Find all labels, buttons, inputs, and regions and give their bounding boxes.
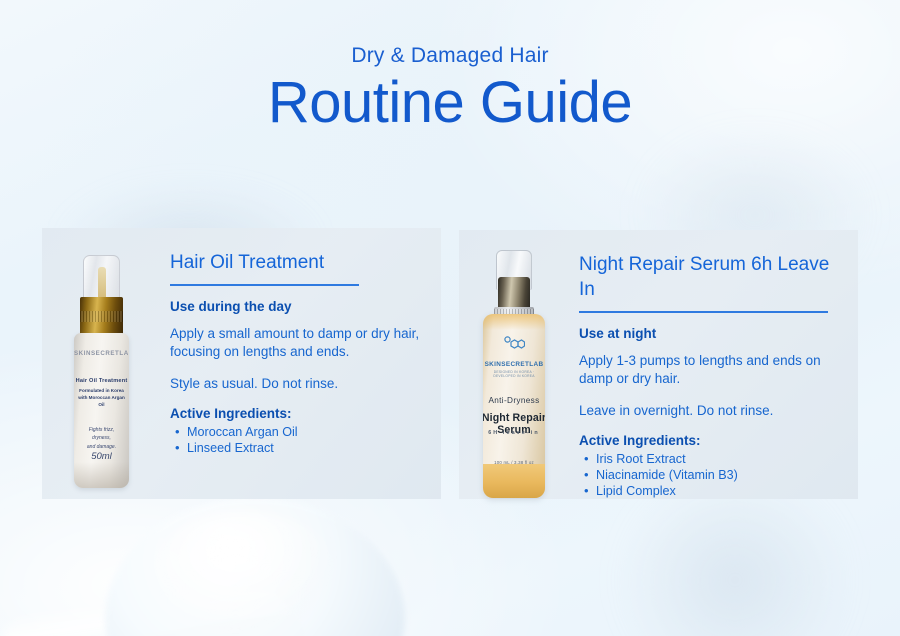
night-serum-bottle: SKINSECRETLAB DESIGNED IN KOREA · DEVELO… bbox=[476, 250, 552, 498]
title-divider bbox=[170, 284, 359, 286]
hair-oil-bottle: SKINSECRETLAB Hair Oil Treatment Formula… bbox=[66, 255, 136, 488]
list-item: Moroccan Argan Oil bbox=[170, 425, 427, 441]
usage-step-1: Apply 1-3 pumps to lengths and ends on d… bbox=[579, 352, 844, 388]
product-card-night-serum: SKINSECRETLAB DESIGNED IN KOREA · DEVELO… bbox=[459, 230, 858, 499]
bottle-product-name: Hair Oil Treatment bbox=[74, 378, 129, 384]
card-body-night-serum: Night Repair Serum 6h Leave In Use at ni… bbox=[569, 230, 858, 499]
bottle-claim-line2: dryness, bbox=[92, 435, 111, 441]
title-divider bbox=[579, 311, 828, 313]
bottle-body: SKINSECRETLAB Hair Oil Treatment Formula… bbox=[74, 333, 129, 488]
bottle-brand-label: SKINSECRETLAB bbox=[74, 350, 129, 357]
bottle-subtitle-line1: Formulated in Korea bbox=[79, 388, 124, 393]
background-glass-highlight bbox=[150, 512, 340, 632]
bottle-leave-in-label: 6H leave-in bbox=[483, 430, 545, 436]
bottle-subtitle-line3: Oil bbox=[98, 402, 104, 407]
header-eyebrow: Dry & Damaged Hair bbox=[0, 44, 900, 68]
bottle-body: SKINSECRETLAB DESIGNED IN KOREA · DEVELO… bbox=[483, 314, 545, 498]
bottle-anti-dryness-label: Anti-Dryness bbox=[483, 396, 545, 405]
routine-guide-poster: Dry & Damaged Hair Routine Guide SKINSEC… bbox=[0, 0, 900, 636]
usage-step-1: Apply a small amount to damp or dry hair… bbox=[170, 325, 427, 361]
list-item: Iris Root Extract bbox=[579, 452, 844, 468]
list-item: Linseed Extract bbox=[170, 441, 427, 457]
card-title-night-serum: Night Repair Serum 6h Leave In bbox=[579, 252, 844, 302]
ingredients-list-hair-oil: Moroccan Argan Oil Linseed Extract bbox=[170, 425, 427, 457]
molecule-logo-icon bbox=[483, 336, 545, 349]
bottle-claim-line3: and damage. bbox=[87, 444, 116, 450]
bottle-volume-label: 100 mL / 3.38 fl oz bbox=[483, 460, 545, 465]
list-item: Lipid Complex bbox=[579, 484, 844, 500]
usage-step-2: Leave in overnight. Do not rinse. bbox=[579, 402, 844, 420]
bottle-claim-line1: Fights frizz, bbox=[89, 427, 115, 433]
bottle-subtitle-line2: with Moroccan Argan bbox=[78, 395, 125, 400]
list-item: Niacinamide (Vitamin B3) bbox=[579, 468, 844, 484]
bottle-pump-icon bbox=[498, 277, 530, 311]
card-body-hair-oil: Hair Oil Treatment Use during the day Ap… bbox=[160, 228, 441, 499]
product-card-hair-oil: SKINSECRETLAB Hair Oil Treatment Formula… bbox=[42, 228, 441, 499]
bottle-cap-icon bbox=[83, 255, 120, 301]
bottle-subtitle: Formulated in Korea with Moroccan Argan … bbox=[78, 388, 125, 409]
usage-time-label: Use at night bbox=[579, 326, 844, 341]
ingredients-list-night-serum: Iris Root Extract Niacinamide (Vitamin B… bbox=[579, 452, 844, 500]
bottle-brand-label: SKINSECRETLAB bbox=[483, 361, 545, 368]
usage-step-2: Style as usual. Do not rinse. bbox=[170, 375, 427, 393]
page-title: Routine Guide bbox=[0, 72, 900, 133]
bottle-tagline: DESIGNED IN KOREA · DEVELOPED IN KOREA bbox=[486, 370, 542, 378]
bottle-size-label: 50ml bbox=[74, 451, 129, 462]
bottle-claim: Fights frizz, dryness, and damage. bbox=[78, 426, 125, 451]
product-image-night-serum: SKINSECRETLAB DESIGNED IN KOREA · DEVELO… bbox=[459, 230, 569, 499]
product-image-hair-oil: SKINSECRETLAB Hair Oil Treatment Formula… bbox=[42, 228, 160, 499]
usage-time-label: Use during the day bbox=[170, 299, 427, 314]
card-title-hair-oil: Hair Oil Treatment bbox=[170, 250, 427, 275]
poster-header: Dry & Damaged Hair Routine Guide bbox=[0, 44, 900, 133]
ingredients-heading: Active Ingredients: bbox=[579, 433, 844, 448]
ingredients-heading: Active Ingredients: bbox=[170, 406, 427, 421]
bottle-collar-icon bbox=[80, 297, 123, 336]
